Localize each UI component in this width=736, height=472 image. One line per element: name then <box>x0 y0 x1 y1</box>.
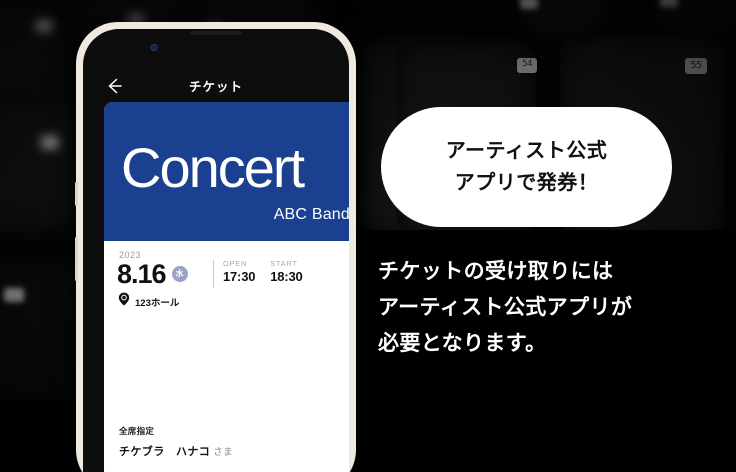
phone-volume-button[interactable] <box>75 182 78 206</box>
phone-front-camera <box>151 44 158 51</box>
ticket-holder: チケブラ ハナコさま <box>119 443 233 459</box>
copy-line-3: 必要となります。 <box>378 326 678 362</box>
phone-speaker <box>190 31 242 35</box>
ticket-card[interactable]: Concert ABC Band 2023 8.16 水 OPEN 17:30 <box>104 102 349 472</box>
start-time-block: START 18:30 <box>270 259 302 285</box>
app-navbar: チケット <box>83 69 349 105</box>
speech-bubble: アーティスト公式 アプリで発券！ <box>381 107 672 227</box>
ticket-card-header: Concert ABC Band <box>104 102 349 241</box>
holder-suffix: さま <box>213 447 233 458</box>
copy-line-1: チケットの受け取りには <box>378 254 678 290</box>
open-time-block: OPEN 17:30 <box>223 259 255 285</box>
start-label: START <box>270 259 302 269</box>
ticket-footer: 全席指定 チケブラ ハナコさま <box>119 425 233 459</box>
start-time: 18:30 <box>270 269 302 285</box>
seat-type: 全席指定 <box>119 425 233 437</box>
divider <box>213 260 214 288</box>
copy-line-2: アーティスト公式アプリが <box>378 290 678 326</box>
bubble-line-2: アプリで発券！ <box>455 167 599 199</box>
screenshot-stage: 54 55 チケット Concert <box>0 0 736 472</box>
venue-row: 123ホール <box>118 292 179 311</box>
phone-screen: チケット Concert ABC Band 2023 8.16 水 <box>83 29 349 472</box>
phone-device: チケット Concert ABC Band 2023 8.16 水 <box>76 22 356 472</box>
ticket-card-body: 2023 8.16 水 OPEN 17:30 START 18:30 <box>104 241 349 472</box>
event-date: 8.16 <box>117 259 166 289</box>
holder-name: チケブラ ハナコ <box>119 446 210 458</box>
concert-title: Concert <box>121 140 303 196</box>
page-title: チケット <box>83 76 349 95</box>
venue-name: 123ホール <box>135 295 179 309</box>
open-label: OPEN <box>223 259 255 269</box>
event-date-row: 8.16 水 <box>117 259 188 289</box>
band-name: ABC Band <box>274 206 349 224</box>
bubble-line-1: アーティスト公式 <box>446 135 608 167</box>
phone-power-button[interactable] <box>75 237 78 281</box>
event-times: OPEN 17:30 START 18:30 <box>223 259 303 285</box>
location-pin-icon <box>118 292 130 311</box>
open-time: 17:30 <box>223 269 255 285</box>
callout-body-text: チケットの受け取りには アーティスト公式アプリが 必要となります。 <box>378 254 678 362</box>
weekday-badge: 水 <box>172 266 188 282</box>
